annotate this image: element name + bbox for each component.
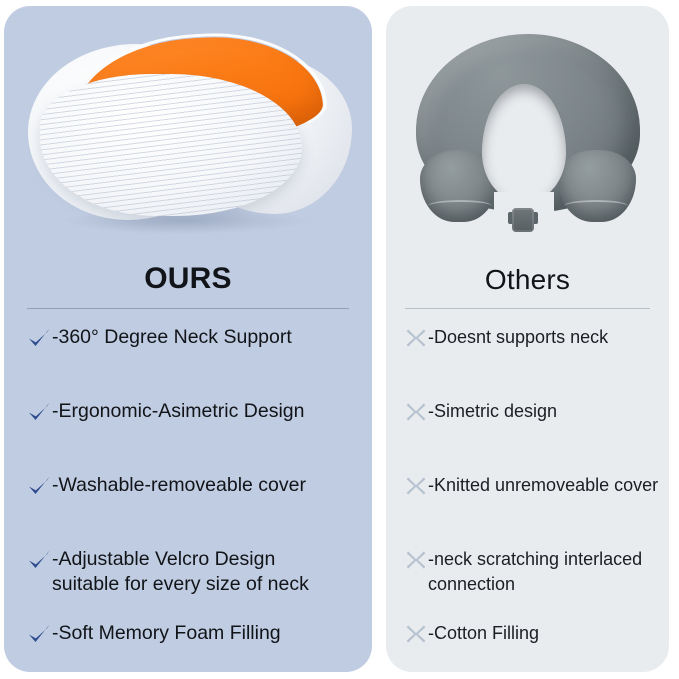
list-item: -Washable-removeable cover xyxy=(4,473,372,531)
check-icon xyxy=(26,326,52,352)
list-item: -Doesnt supports neck xyxy=(386,325,669,383)
feature-label: -Adjustable Velcro Design suitable for e… xyxy=(52,547,309,597)
check-icon xyxy=(26,400,52,426)
list-item: -Simetric design xyxy=(386,399,669,457)
list-item: -neck scratching interlaced connection xyxy=(386,547,669,605)
list-item: -Adjustable Velcro Design suitable for e… xyxy=(4,547,372,605)
pillow-right-seam xyxy=(564,200,628,212)
others-product-image xyxy=(386,6,669,246)
pillow-ribbed-front-band xyxy=(40,74,302,216)
feature-label: -Simetric design xyxy=(428,399,557,424)
ours-title: OURS xyxy=(4,246,372,294)
list-item: -Ergonomic-Asimetric Design xyxy=(4,399,372,457)
cross-icon xyxy=(404,326,428,350)
cross-icon xyxy=(404,622,428,646)
others-panel: Others -Doesnt supports neck -Simetric d… xyxy=(386,6,669,672)
list-item: -Knitted unremoveable cover xyxy=(386,473,669,531)
feature-label: -360° Degree Neck Support xyxy=(52,325,292,350)
cross-icon xyxy=(404,474,428,498)
list-item: -360° Degree Neck Support xyxy=(4,325,372,383)
others-title: Others xyxy=(386,246,669,294)
white-ribbed-neck-pillow-illustration xyxy=(26,28,352,228)
check-icon xyxy=(26,474,52,500)
check-icon xyxy=(26,622,52,648)
others-feature-list: -Doesnt supports neck -Simetric design -… xyxy=(386,325,669,672)
cross-icon xyxy=(404,548,428,572)
feature-label: -Knitted unremoveable cover xyxy=(428,473,658,498)
ours-product-image xyxy=(4,6,372,246)
list-item: -Soft Memory Foam Filling xyxy=(4,621,372,672)
list-item: -Cotton Filling xyxy=(386,621,669,672)
comparison-infographic: OURS -360° Degree Neck Support -Ergonomi… xyxy=(0,0,679,679)
others-title-divider xyxy=(405,308,650,309)
check-icon xyxy=(26,548,52,574)
feature-label: -Ergonomic-Asimetric Design xyxy=(52,399,304,424)
ours-panel: OURS -360° Degree Neck Support -Ergonomi… xyxy=(4,6,372,672)
cross-icon xyxy=(404,400,428,424)
feature-label: -Soft Memory Foam Filling xyxy=(52,621,281,646)
ours-feature-list: -360° Degree Neck Support -Ergonomic-Asi… xyxy=(4,325,372,672)
feature-label: -neck scratching interlaced connection xyxy=(428,547,642,597)
pillow-clip xyxy=(512,208,534,232)
feature-label: -Doesnt supports neck xyxy=(428,325,608,350)
feature-label: -Cotton Filling xyxy=(428,621,539,646)
ours-title-divider xyxy=(27,308,349,309)
feature-label: -Washable-removeable cover xyxy=(52,473,306,498)
grey-u-shape-travel-pillow-illustration xyxy=(408,30,648,226)
pillow-left-seam xyxy=(428,200,492,212)
